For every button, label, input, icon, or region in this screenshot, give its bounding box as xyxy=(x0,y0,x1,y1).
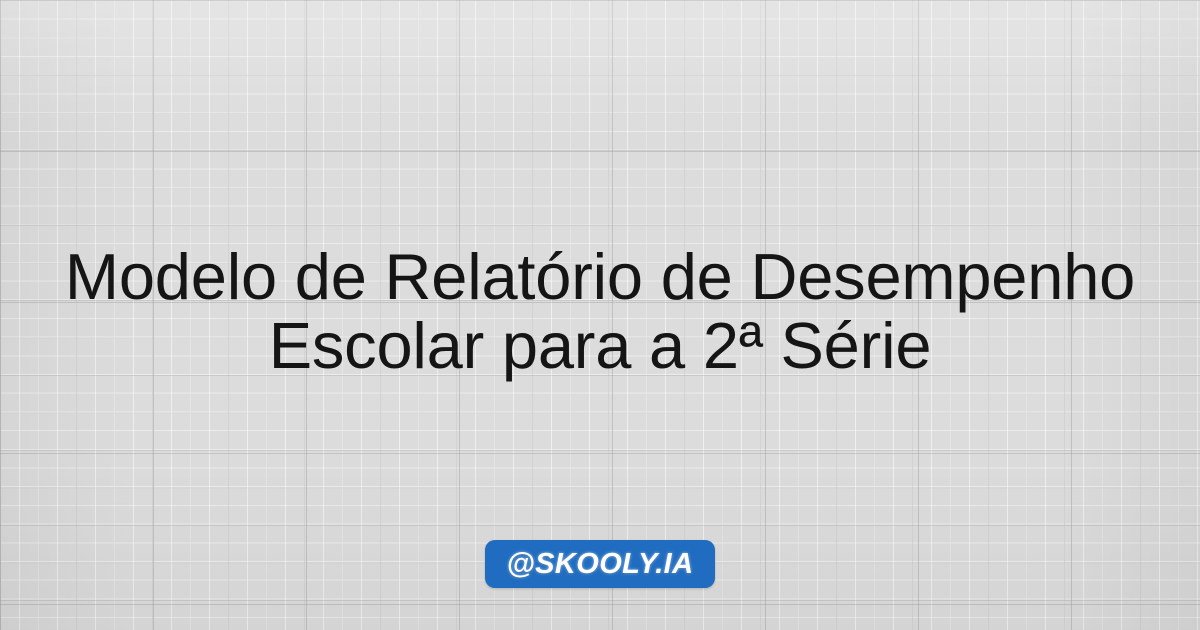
poster-canvas: Modelo de Relatório de Desempenho Escola… xyxy=(0,0,1200,630)
poster-content: Modelo de Relatório de Desempenho Escola… xyxy=(0,0,1200,630)
handle-badge-label: @SKOOLY.IA xyxy=(507,550,694,579)
title-block: Modelo de Relatório de Desempenho Escola… xyxy=(0,243,1200,381)
page-title: Modelo de Relatório de Desempenho Escola… xyxy=(24,243,1176,381)
handle-badge-row: @SKOOLY.IA xyxy=(0,540,1200,588)
handle-badge[interactable]: @SKOOLY.IA xyxy=(485,540,716,588)
